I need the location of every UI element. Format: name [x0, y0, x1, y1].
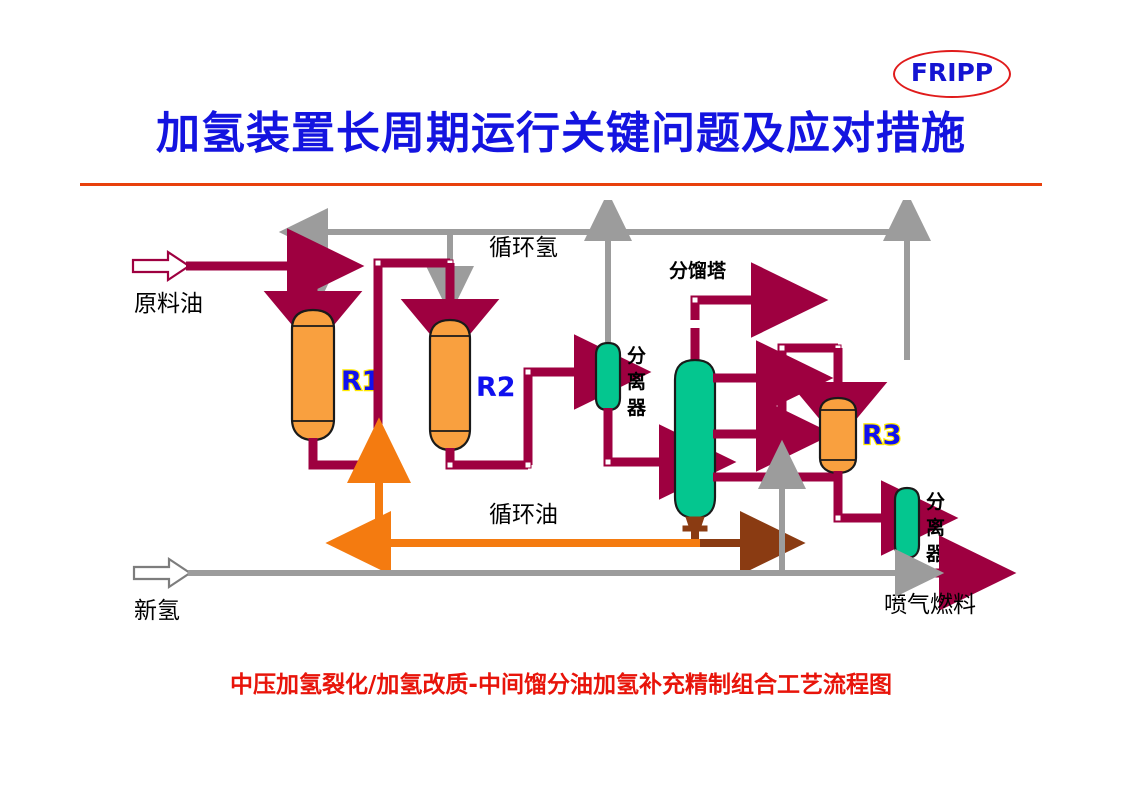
sep1-label-char-1: 离: [627, 370, 646, 393]
equipment-reactor-r3: R3: [820, 398, 902, 473]
process-flow-diagram: 循环氢 原料油 R1: [0, 200, 1122, 640]
figure-caption: 中压加氢裂化/加氢改质-中间馏分油加氢补充精制组合工艺流程图: [0, 665, 1122, 699]
sep1-label-char-0: 分: [627, 345, 646, 367]
reactor-r2-label: R2: [476, 372, 516, 403]
sep2-label-char-2: 器: [925, 543, 946, 565]
logo-text: FRIPP: [893, 50, 1011, 98]
frac-skirt-icon: [683, 517, 707, 531]
makeup-hydrogen-inlet-arrow-icon: [134, 559, 190, 587]
sep2-label-char-1: 离: [926, 516, 945, 539]
stream-makeup-hydrogen: 新氢: [134, 559, 901, 624]
junction-node-r3-riser-top: [779, 345, 785, 351]
sep1-label-char-2: 器: [626, 397, 647, 419]
equipment-separator-1: 分 离 器: [596, 343, 647, 419]
separator-2-label: 分 离 器: [925, 491, 946, 565]
fractionation-tower-label: 分馏塔: [669, 259, 727, 282]
junction-node-r3-out: [835, 515, 841, 521]
junction-node-r2-out: [447, 462, 453, 468]
makeup-hydrogen-label: 新氢: [134, 598, 180, 624]
reactor-r3-label: R3: [862, 420, 902, 451]
equipment-reactor-r2: R2: [430, 320, 516, 450]
sep2-label-char-0: 分: [926, 491, 945, 513]
r3-outlet-line: [838, 471, 890, 518]
feed-inlet-arrow-icon: [133, 252, 189, 280]
junction-node-sep1-bottom: [605, 459, 611, 465]
r1-outlet-run: [313, 438, 378, 465]
feed-label: 原料油: [134, 291, 203, 317]
jet-fuel-label: 喷气燃料: [884, 592, 976, 618]
stream-feed: 原料油: [133, 252, 296, 317]
junction-node-sep1-riser-base: [525, 462, 531, 468]
equipment-reactor-r1: R1: [292, 310, 381, 440]
sep2-shell: [895, 488, 919, 558]
junction-node-frac-top: [692, 297, 698, 303]
title-divider: [80, 183, 1042, 186]
equipment-separator-2: 分 离 器: [895, 488, 946, 565]
junction-node-riser-top: [375, 260, 381, 266]
junction-node-r1-out: [375, 462, 381, 468]
r2-to-sep1-riser: [528, 372, 583, 465]
fripp-logo: FRIPP: [893, 50, 1015, 102]
pipe-r3-to-sep2: [835, 471, 890, 521]
stream-jet-fuel: 喷气燃料: [884, 556, 976, 618]
junction-node-sep1-riser-top: [525, 369, 531, 375]
page-title: 加氢装置长周期运行关键问题及应对措施: [0, 97, 1122, 161]
stream-recycle-hydrogen: 循环氢: [313, 232, 910, 360]
separator-1-label: 分 离 器: [626, 345, 647, 419]
sep1-shell: [596, 343, 620, 410]
r2-outlet-run: [450, 448, 528, 465]
frac-top-product-line: [695, 300, 760, 320]
recycle-hydrogen-label: 循环氢: [489, 235, 558, 261]
equipment-fractionation-tower: 分馏塔: [669, 259, 765, 531]
frac-shell: [675, 360, 715, 518]
recycle-oil-label: 循环油: [489, 502, 558, 528]
slide-canvas: FRIPP 加氢装置长周期运行关键问题及应对措施: [0, 0, 1122, 793]
